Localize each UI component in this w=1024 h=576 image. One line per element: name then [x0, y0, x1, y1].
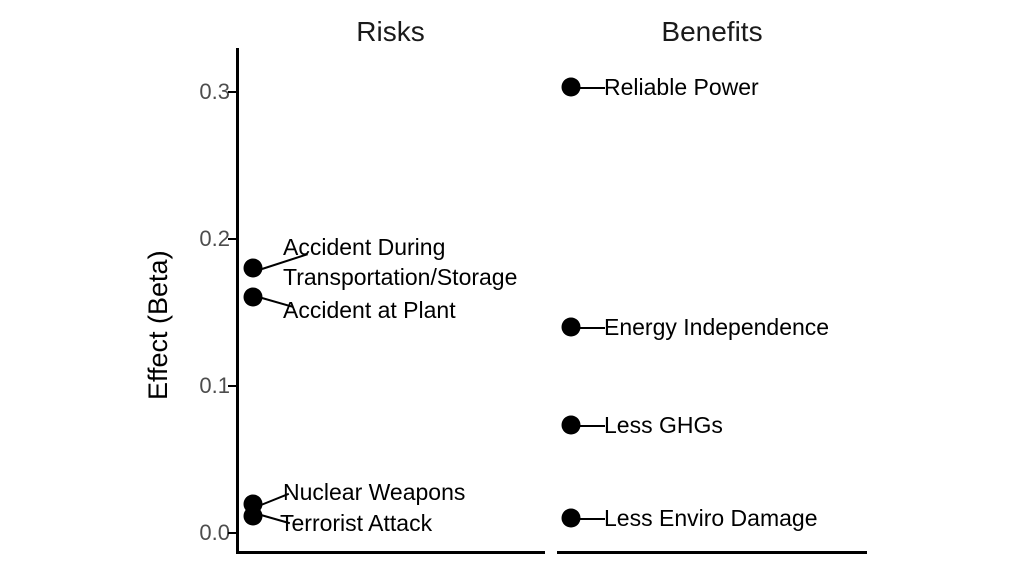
- y-tick-label-0: 0.0: [190, 520, 230, 546]
- panel-title-benefits: Benefits: [557, 16, 867, 48]
- data-label-benefit-3: Less Enviro Damage: [604, 503, 818, 533]
- data-point-risk-0: [244, 259, 263, 278]
- data-label-benefit-1: Energy Independence: [604, 312, 829, 342]
- data-label-benefit-2: Less GHGs: [604, 410, 723, 440]
- data-point-benefit-0: [562, 78, 581, 97]
- leader-line-benefit-0: [580, 87, 605, 89]
- data-point-risk-3: [244, 507, 263, 526]
- y-tick-label-2: 0.2: [190, 226, 230, 252]
- risks-panel-y-axis: [236, 48, 239, 553]
- data-point-benefit-2: [562, 416, 581, 435]
- data-point-risk-1: [244, 288, 263, 307]
- data-label-risk-2: Nuclear Weapons: [283, 477, 465, 507]
- data-label-risk-1: Accident at Plant: [283, 295, 456, 325]
- leader-line-benefit-2: [580, 425, 605, 427]
- data-label-benefit-0: Reliable Power: [604, 72, 759, 102]
- dot-plot-figure: Effect (Beta) 0.0 0.1 0.2 0.3 Risks Bene…: [0, 0, 1024, 576]
- data-point-benefit-1: [562, 318, 581, 337]
- leader-line-benefit-1: [580, 327, 605, 329]
- y-tick-label-3: 0.3: [190, 79, 230, 105]
- data-label-risk-0: Accident During Transportation/Storage: [283, 232, 543, 292]
- benefits-panel-x-axis: [557, 551, 867, 554]
- risks-panel-x-axis: [236, 551, 545, 554]
- y-tick-label-1: 0.1: [190, 373, 230, 399]
- y-axis-title: Effect (Beta): [143, 250, 174, 400]
- panel-title-risks: Risks: [236, 16, 545, 48]
- data-point-benefit-3: [562, 509, 581, 528]
- leader-line-benefit-3: [580, 518, 605, 520]
- data-label-risk-3: Terrorist Attack: [280, 508, 432, 538]
